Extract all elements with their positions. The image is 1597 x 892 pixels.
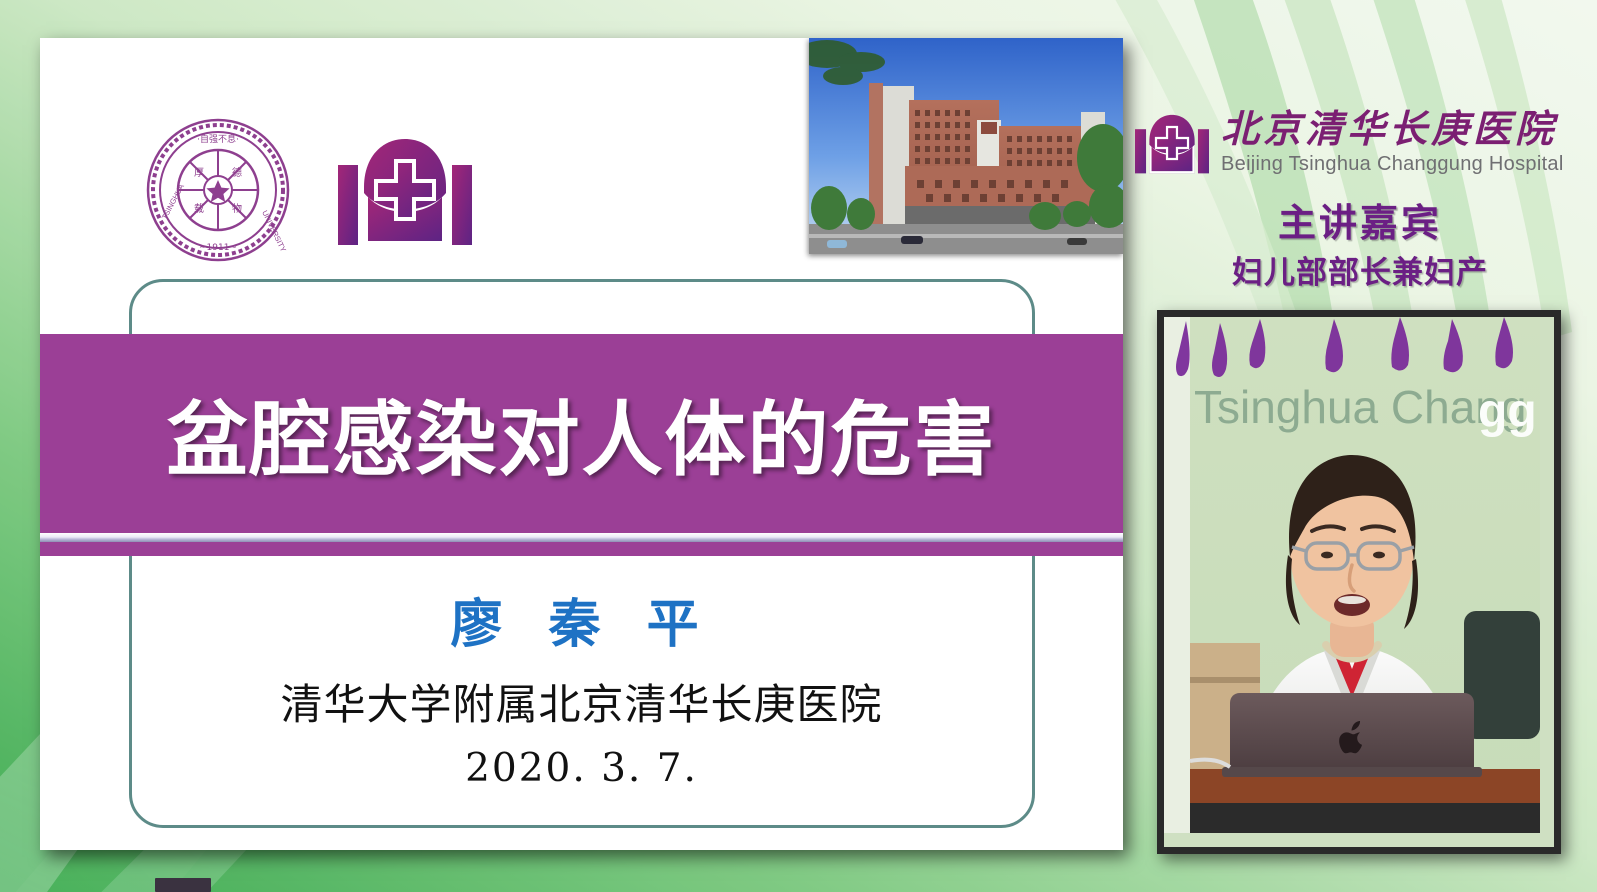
building-illustration <box>809 38 1123 254</box>
player-control-bar-fragment[interactable] <box>155 878 211 892</box>
svg-text:·自强不息·: ·自强不息· <box>197 133 239 145</box>
presenter-video-feed[interactable]: Tsinghua Chang gg <box>1157 310 1561 854</box>
hospital-logo-icon <box>338 131 472 249</box>
slide-logo-group: ·自强不息· ~1911~ TSINGHUA UNIVERSITY 厚 德 载 … <box>144 116 472 264</box>
title-band-divider <box>40 533 1123 542</box>
presenter-video-frame: Tsinghua Chang gg <box>1164 317 1540 833</box>
presentation-slide[interactable]: ·自强不息· ~1911~ TSINGHUA UNIVERSITY 厚 德 载 … <box>40 38 1123 850</box>
guest-speaker-role: 妇儿部部长兼妇产 <box>1123 247 1597 292</box>
slide-title: 盆腔感染对人体的危害 <box>40 334 1123 533</box>
svg-text:厚: 厚 <box>194 167 204 179</box>
speaker-name: 廖 秦 平 <box>40 593 1123 658</box>
svg-text:TSINGHUA: TSINGHUA <box>160 182 186 220</box>
guest-speaker-label: 主讲嘉宾 <box>1123 192 1597 247</box>
title-band-accent <box>40 542 1123 556</box>
svg-text:物: 物 <box>232 202 242 215</box>
hospital-name-en: Beijing Tsinghua Changgung Hospital <box>1221 153 1564 176</box>
svg-text:Tsinghua Chang: Tsinghua Chang <box>1194 381 1526 433</box>
hospital-name-cn: 北京清华长庚医院 <box>1221 110 1564 148</box>
presentation-date: 2020. 3. 7. <box>40 746 1123 791</box>
speaker-affiliation: 清华大学附属北京清华长庚医院 <box>40 680 1123 730</box>
speaker-block: 廖 秦 平 清华大学附属北京清华长庚医院 2020. 3. 7. <box>40 593 1123 791</box>
hospital-logo-icon <box>1135 106 1209 180</box>
hospital-building-photo <box>809 38 1123 254</box>
svg-text:载: 载 <box>194 203 204 215</box>
hospital-branding: 北京清华长庚医院 Beijing Tsinghua Changgung Hosp… <box>1135 98 1585 188</box>
tsinghua-university-seal-icon: ·自强不息· ~1911~ TSINGHUA UNIVERSITY 厚 德 载 … <box>144 116 292 264</box>
svg-text:~1911~: ~1911~ <box>199 243 237 253</box>
svg-text:gg: gg <box>1478 385 1537 438</box>
svg-text:德: 德 <box>232 166 242 179</box>
